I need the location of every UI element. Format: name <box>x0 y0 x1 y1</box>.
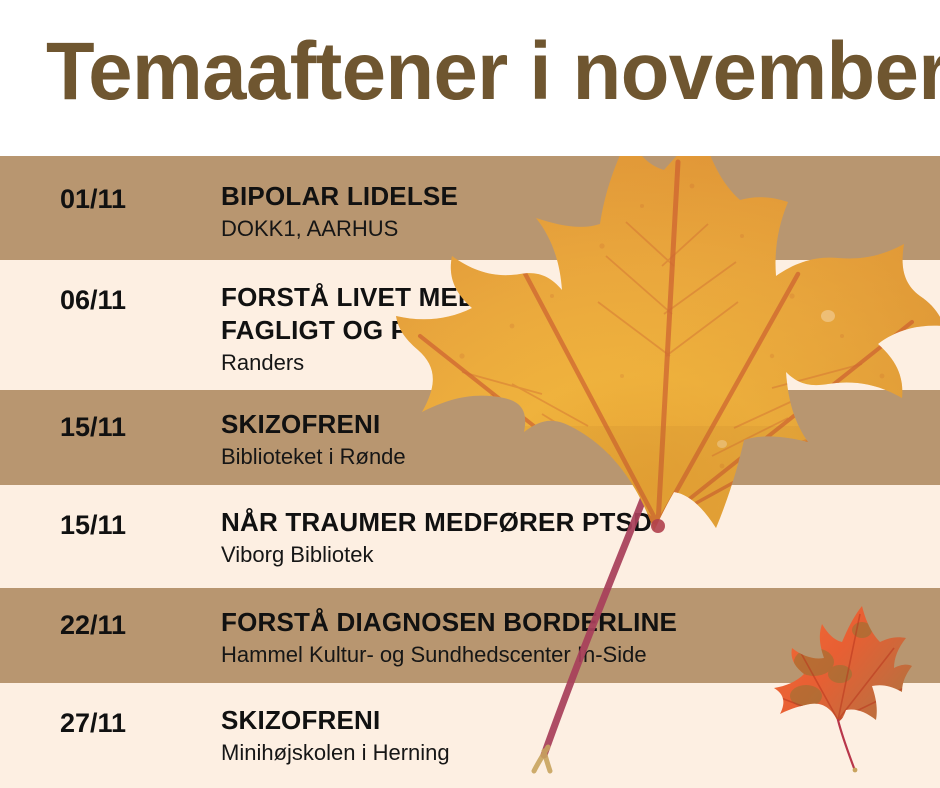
poster-canvas: 01/11 BIPOLAR LIDELSE DOKK1, AARHUS 06/1… <box>0 0 940 788</box>
event-body: BIPOLAR LIDELSE DOKK1, AARHUS <box>221 180 932 243</box>
event-row: 06/11 FORSTÅ LIVET MED AUTISME UD FRA ET… <box>0 260 940 390</box>
event-row: 22/11 FORSTÅ DIAGNOSEN BORDERLINE Hammel… <box>0 588 940 683</box>
event-row: 15/11 NÅR TRAUMER MEDFØRER PTSD Viborg B… <box>0 485 940 588</box>
event-title: BIPOLAR LIDELSE <box>221 180 932 213</box>
page-title: Temaaftener i november <box>46 24 940 120</box>
event-body: FORSTÅ LIVET MED AUTISME UD FRA ET FAGLI… <box>221 281 932 377</box>
event-title: FORSTÅ DIAGNOSEN BORDERLINE <box>221 606 932 639</box>
event-body: NÅR TRAUMER MEDFØRER PTSD Viborg Bibliot… <box>221 506 932 569</box>
event-venue: Biblioteket i Rønde <box>221 443 932 471</box>
event-date: 27/11 <box>60 707 126 739</box>
event-body: FORSTÅ DIAGNOSEN BORDERLINE Hammel Kultu… <box>221 606 932 669</box>
event-title: SKIZOFRENI <box>221 704 932 737</box>
event-row: 15/11 SKIZOFRENI Biblioteket i Rønde <box>0 390 940 485</box>
event-date: 06/11 <box>60 284 126 316</box>
event-row: 27/11 SKIZOFRENI Minihøjskolen i Herning <box>0 683 940 788</box>
event-venue: Randers <box>221 349 932 377</box>
event-title: SKIZOFRENI <box>221 408 932 441</box>
event-title: NÅR TRAUMER MEDFØRER PTSD <box>221 506 932 539</box>
event-date: 15/11 <box>60 411 126 443</box>
event-body: SKIZOFRENI Biblioteket i Rønde <box>221 408 932 471</box>
event-body: SKIZOFRENI Minihøjskolen i Herning <box>221 704 932 767</box>
event-venue: Hammel Kultur- og Sundhedscenter In-Side <box>221 641 932 669</box>
event-date: 01/11 <box>60 183 126 215</box>
event-title: FORSTÅ LIVET MED AUTISME UD FRA ET FAGLI… <box>221 281 932 347</box>
event-date: 15/11 <box>60 509 126 541</box>
event-venue: Viborg Bibliotek <box>221 541 932 569</box>
event-date: 22/11 <box>60 609 126 641</box>
event-venue: Minihøjskolen i Herning <box>221 739 932 767</box>
event-row: 01/11 BIPOLAR LIDELSE DOKK1, AARHUS <box>0 156 940 260</box>
event-venue: DOKK1, AARHUS <box>221 215 932 243</box>
